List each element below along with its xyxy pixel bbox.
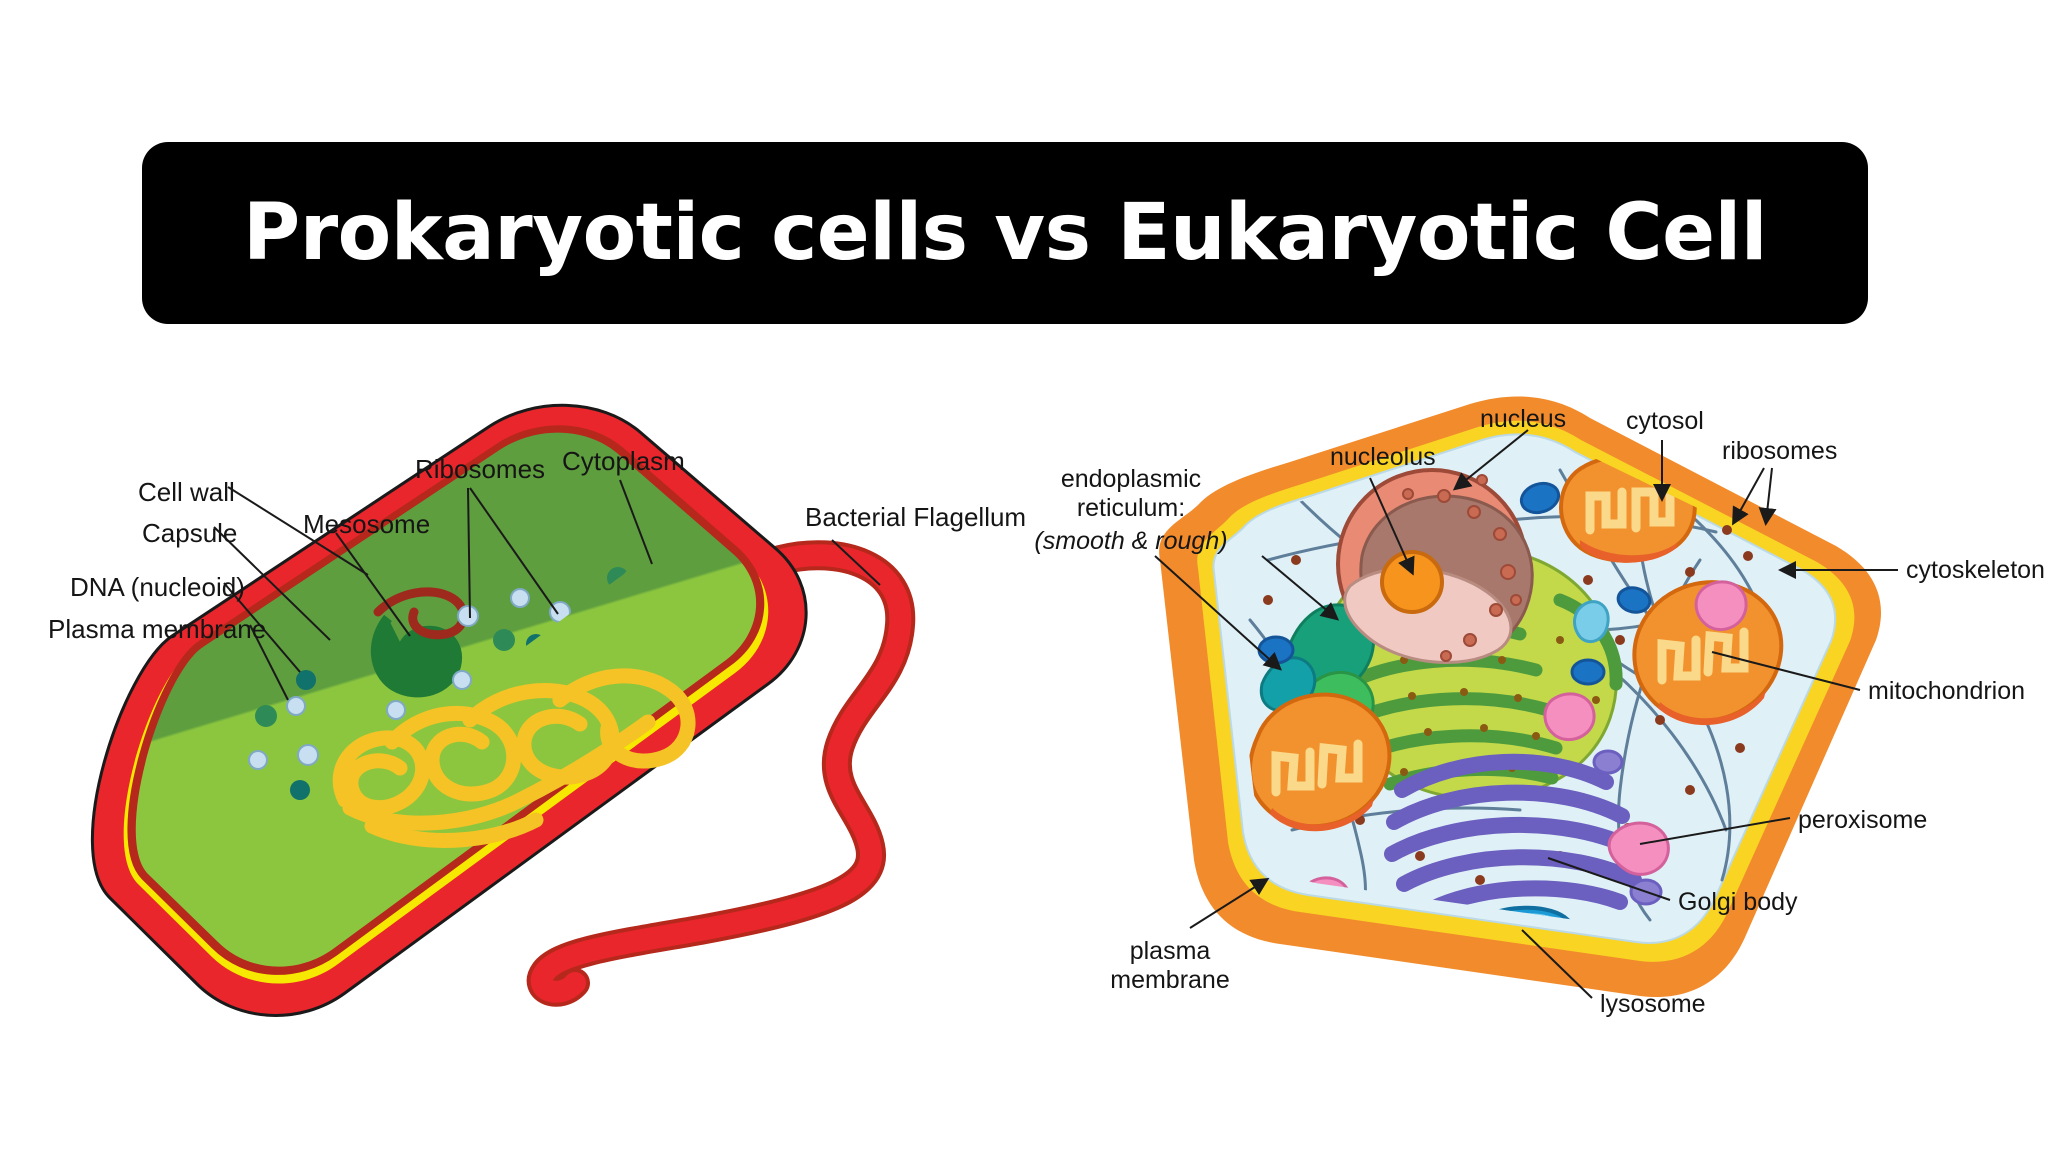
label-plasma-membrane-line2: membrane [1080,966,1260,994]
label-nucleolus: nucleolus [1330,443,1436,471]
label-peroxisome: peroxisome [1798,806,1927,834]
diagram-canvas: Prokaryotic cells vs Eukaryotic Cell [0,0,2048,1152]
label-cytosol: cytosol [1626,407,1704,435]
nucleolus-shape [1382,552,1442,612]
label-ribosomes: ribosomes [1722,437,1837,465]
label-golgi-body: Golgi body [1678,888,1798,916]
label-endoplasmic-reticulum-line1: endoplasmic [1026,465,1236,493]
eukaryotic-cell-graphic [0,0,2048,1152]
label-nucleus: nucleus [1480,405,1566,433]
label-mitochondrion: mitochondrion [1868,677,2025,705]
light-vesicle-shapes [1575,602,1609,642]
label-plasma-membrane-line1: plasma [1080,937,1260,965]
label-endoplasmic-reticulum-line3: (smooth & rough) [1006,527,1256,555]
label-lysosome: lysosome [1600,990,1706,1018]
label-cytoskeleton: cytoskeleton [1906,556,2045,584]
label-endoplasmic-reticulum-line2: reticulum: [1026,494,1236,522]
